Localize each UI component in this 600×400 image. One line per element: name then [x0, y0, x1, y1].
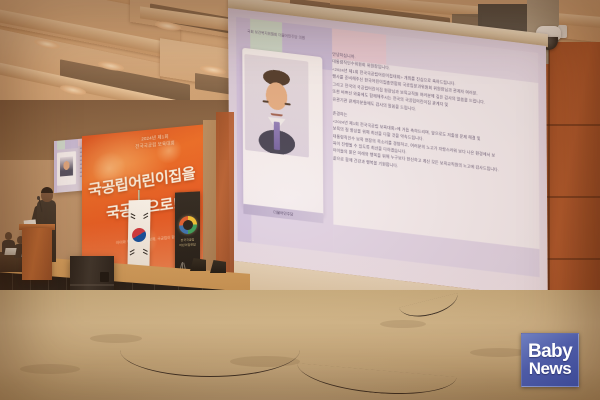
- column-wood-facing: [216, 112, 234, 284]
- portrait-necktie: [274, 121, 280, 150]
- watermark-line-2: News: [529, 360, 571, 377]
- news-watermark-logo: Baby News: [521, 333, 579, 387]
- speaker-podium: [22, 228, 52, 280]
- taeguk-symbol: [132, 228, 146, 242]
- carpet-floor: [0, 290, 600, 400]
- laptop-on-table: [4, 248, 16, 255]
- slide-body-text: 안녕하십니까.대통령직인수위원회 위원장입니다.<2024년 제1회 전국국공립…: [332, 50, 529, 185]
- watermark-line-1: Baby: [528, 343, 572, 360]
- wood-wall-panel: [549, 42, 600, 332]
- conference-hall-photo: 국회 보건복지위원회 더불어민주당 의원 더불어민주당 안녕하십니까.대통령직인…: [0, 0, 600, 400]
- screen-surface: 국회 보건복지위원회 더불어민주당 의원 더불어민주당 안녕하십니까.대통령직인…: [228, 8, 548, 298]
- speaker-port: [100, 272, 109, 282]
- korean-national-flag: [127, 200, 150, 275]
- microphone-head: [37, 196, 40, 200]
- side-screen-portrait: [60, 156, 73, 176]
- organization-emblem: [179, 216, 197, 235]
- organization-flag-text: 전국국공립어린이집연합: [179, 238, 196, 248]
- presenter-hair: [41, 187, 53, 193]
- portrait-photo: [244, 54, 309, 158]
- presentation-slide: 국회 보건복지위원회 더불어민주당 의원 더불어민주당 안녕하십니까.대통령직인…: [236, 17, 540, 277]
